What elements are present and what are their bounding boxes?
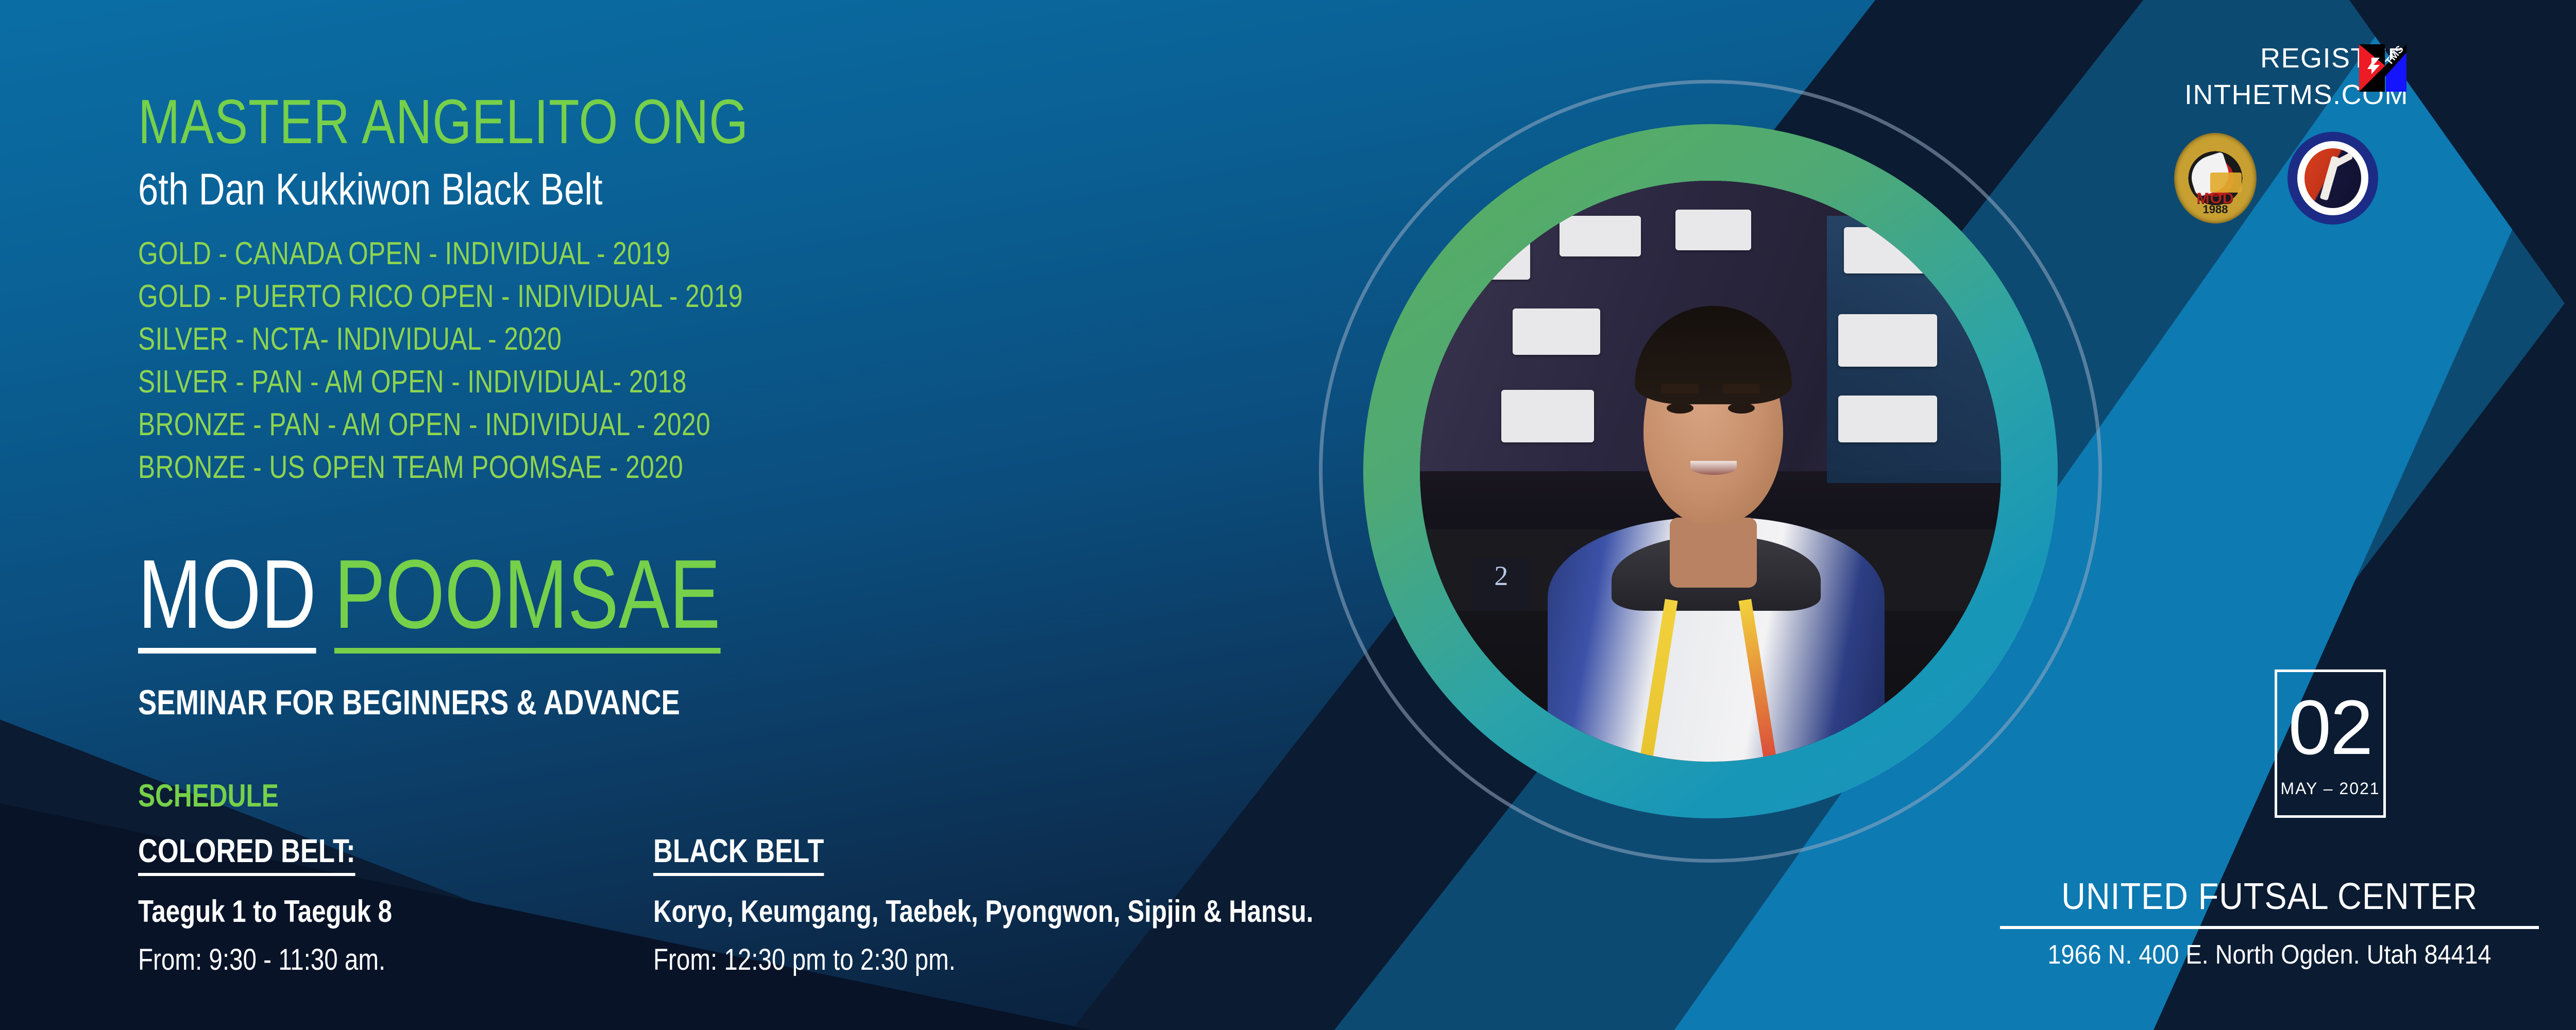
event-date-month-year: MAY – 2021 — [2277, 779, 2383, 798]
schedule-time: From: 9:30 - 11:30 am. — [138, 942, 531, 977]
mod-martial-arts-logo-icon: MOD 1988 — [2174, 133, 2257, 224]
register-block: REGISTER INTHETMS.COM — [2123, 40, 2566, 114]
mod-logo-year: 1988 — [2174, 203, 2257, 216]
event-title: MOD POOMSAE — [138, 548, 829, 654]
ong-taekwondo-logo-icon — [2287, 132, 2378, 225]
schedule-heading: COLORED BELT: — [138, 832, 355, 876]
tms-logo-icon: TMS — [2356, 40, 2410, 96]
list-item: SILVER - NCTA- INDIVIDUAL - 2020 — [138, 318, 1004, 360]
schedule-time: From: 12:30 pm to 2:30 pm. — [653, 942, 1540, 977]
avatar: 2 1 — [1420, 181, 2001, 762]
master-photo-group: 2 1 — [1319, 80, 2102, 863]
event-title-block: MOD POOMSAE SEMINAR FOR BEGINNERS & ADVA… — [138, 548, 829, 723]
list-item: BRONZE - US OPEN TEAM POOMSAE - 2020 — [138, 446, 1004, 489]
event-title-word-mod: MOD — [138, 548, 316, 654]
photo-podium-2: 2 — [1472, 558, 1531, 611]
event-date-box: 02 MAY – 2021 — [2275, 669, 2386, 818]
photo-subject-brow-left — [1661, 384, 1699, 393]
event-title-word-poomsae: POOMSAE — [334, 548, 720, 654]
master-rank: 6th Dan Kukkiwon Black Belt — [138, 167, 1025, 212]
venue-block: UNITED FUTSAL CENTER 1966 N. 400 E. Nort… — [1989, 875, 2550, 970]
list-item: BRONZE - PAN - AM OPEN - INDIVIDUAL - 20… — [138, 403, 1004, 446]
venue-address: 1966 N. 400 E. North Ogden. Utah 84414 — [2017, 939, 2522, 970]
schedule-heading: BLACK BELT — [653, 832, 824, 876]
schedule-label: SCHEDULE — [138, 778, 279, 814]
organization-logos: MOD 1988 — [2164, 130, 2432, 222]
schedule-column-colored-belt: COLORED BELT: Taeguk 1 to Taeguk 8 From:… — [138, 832, 617, 977]
list-item: GOLD - CANADA OPEN - INDIVIDUAL - 2019 — [138, 232, 1004, 275]
schedule-items: Koryo, Keumgang, Taebek, Pyongwon, Sipji… — [653, 894, 1540, 929]
photo-subject-brow-right — [1722, 384, 1760, 393]
photo-sponsor-sign — [1844, 227, 1943, 273]
schedule-column-black-belt: BLACK BELT Koryo, Keumgang, Taebek, Pyon… — [653, 832, 1735, 977]
photo-sponsor-sign — [1501, 390, 1594, 442]
event-subtitle: SEMINAR FOR BEGINNERS & ADVANCE — [138, 682, 691, 723]
venue-divider — [2000, 926, 2539, 929]
photo-sponsor-sign — [1675, 210, 1751, 250]
event-date-day: 02 — [2277, 689, 2383, 766]
photo-sponsor-sign — [1838, 396, 1937, 442]
photo-subject-neck — [1670, 518, 1757, 587]
page-title: MASTER ANGELITO ONG — [138, 90, 1004, 153]
photo-sponsor-sign — [1513, 308, 1600, 355]
photo-subject-mouth — [1690, 461, 1737, 475]
list-item: GOLD - PUERTO RICO OPEN - INDIVIDUAL - 2… — [138, 275, 1004, 318]
photo-sponsor-sign — [1560, 216, 1641, 256]
list-item: SILVER - PAN - AM OPEN - INDIVIDUAL- 201… — [138, 360, 1004, 403]
photo-sponsor-sign — [1455, 233, 1531, 280]
achievements-list: GOLD - CANADA OPEN - INDIVIDUAL - 2019 G… — [138, 232, 1220, 489]
venue-name: UNITED FUTSAL CENTER — [2017, 875, 2522, 918]
schedule-block: SCHEDULE COLORED BELT: Taeguk 1 to Taegu… — [138, 778, 314, 832]
photo-subject-eye-right — [1728, 403, 1755, 414]
poster-canvas: 2 1 MASTER ANGELITO ONG 6th Dan Kukkiwon… — [0, 0, 2576, 1030]
master-info-block: MASTER ANGELITO ONG 6th Dan Kukkiwon Bla… — [138, 90, 1220, 489]
schedule-items: Taeguk 1 to Taeguk 8 — [138, 894, 531, 929]
photo-sponsor-sign — [1838, 314, 1937, 367]
